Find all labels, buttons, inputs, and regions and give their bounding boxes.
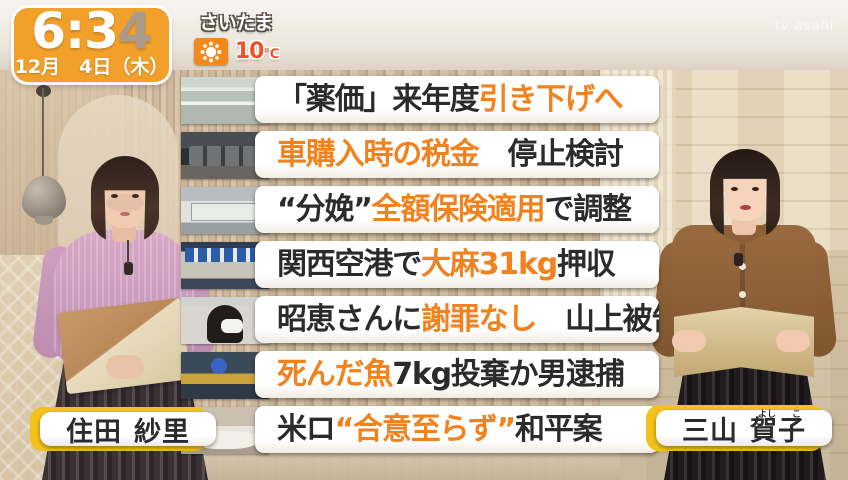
headline-segment-highlight: 全額保険適用 — [372, 192, 545, 227]
anchor-right-eye — [752, 187, 759, 191]
headline-row[interactable]: 関西空港で大麻31kg押収 — [181, 241, 653, 290]
anchor-right-furigana-2: こ — [792, 407, 801, 420]
clock-widget: 6:34 12月 4日（木） — [14, 8, 169, 82]
headline-segment: 山上被告 — [536, 302, 659, 337]
anchor-left-lapel-mic — [124, 262, 133, 275]
headline-text: 米ロ“合意至らず”和平案 — [277, 415, 601, 445]
anchor-right-shirt-button — [739, 291, 746, 298]
anchor-left-surname: 住田 — [66, 417, 122, 448]
headline-text: 関西空港で大麻31kg押収 — [277, 250, 615, 280]
headline-bar[interactable]: 「薬価」来年度引き下げへ — [255, 76, 659, 123]
headline-bar[interactable]: 死んだ魚7kg投棄か男逮捕 — [255, 351, 659, 398]
channel-watermark: tv asahi — [775, 18, 834, 34]
headline-bar[interactable]: “分娩”全額保険適用で調整 — [255, 186, 659, 233]
headline-bar[interactable]: 昭恵さんに謝罪なし 山上被告 — [255, 296, 659, 343]
nameplate-body: 三山賀子 — [656, 410, 832, 446]
headline-text: 死んだ魚7kg投棄か男逮捕 — [277, 360, 624, 390]
weather-widget: さいたま 10℃ — [176, 8, 296, 70]
anchor-left-mouth — [120, 212, 130, 216]
headline-segment: 米ロ — [277, 412, 335, 447]
headline-list: 「薬価」来年度引き下げへ 車購入時の税金 停止検討 “分娩”全額保険適用で調整 — [181, 76, 653, 466]
headline-segment-highlight: 謝罪なし — [421, 302, 536, 337]
headline-bar[interactable]: 米ロ“合意至らず”和平案 — [255, 406, 659, 453]
headline-text: “分娩”全額保険適用で調整 — [277, 195, 631, 225]
weather-temperature: 10℃ — [235, 39, 278, 64]
headline-segment-highlight: 車購入時の税金 — [277, 137, 479, 172]
weather-city-label: さいたま — [176, 8, 296, 35]
headline-segment-highlight: 引き下げへ — [479, 82, 623, 117]
nameplate-right: 三山賀子 よし こ — [646, 405, 824, 451]
headline-row[interactable]: “分娩”全額保険適用で調整 — [181, 186, 653, 235]
anchor-right-furigana-1: よし — [758, 407, 776, 420]
headline-segment: 関西空港で — [277, 247, 421, 282]
anchor-right-eye — [731, 187, 738, 191]
anchor-right-given-name: 賀子 — [750, 416, 806, 447]
headline-text: 昭恵さんに謝罪なし 山上被告 — [277, 305, 659, 335]
nameplate-left: 住田紗里 — [30, 407, 208, 451]
headline-bar[interactable]: 関西空港で大麻31kg押収 — [255, 241, 659, 288]
weather-temp-unit: ℃ — [263, 47, 278, 62]
headline-segment: “分娩” — [277, 192, 372, 227]
sun-icon — [194, 38, 228, 65]
anchor-right-name: 三山賀子 — [682, 409, 806, 448]
headline-segment: 停止検討 — [479, 137, 623, 172]
headline-row[interactable]: 車購入時の税金 停止検討 — [181, 131, 653, 180]
anchor-right-hand — [776, 330, 810, 352]
anchor-right-mouth — [740, 205, 751, 210]
anchor-left-script-folder — [57, 298, 190, 395]
anchor-right-hand — [672, 330, 706, 352]
headline-row[interactable]: 昭恵さんに謝罪なし 山上被告 — [181, 296, 653, 345]
anchor-left-hands — [106, 355, 144, 379]
headline-text: 車購入時の税金 停止検討 — [277, 140, 623, 170]
anchor-right-lapel-mic — [734, 253, 743, 266]
nameplate-body: 住田紗里 — [40, 412, 216, 446]
headline-row[interactable]: 「薬価」来年度引き下げへ — [181, 76, 653, 125]
headline-row[interactable]: 米ロ“合意至らず”和平案 — [181, 406, 653, 455]
broadcast-screen: 6:34 12月 4日（木） さいたま — [0, 0, 848, 480]
weather-temp-value: 10 — [235, 39, 264, 64]
anchor-left-name: 住田紗里 — [66, 410, 190, 449]
headline-segment-highlight: “合意至らず” — [335, 412, 515, 447]
anchor-left-eye — [132, 194, 139, 198]
headline-segment-highlight: 大麻31kg — [421, 247, 557, 282]
headline-text: 「薬価」来年度引き下げへ — [277, 85, 623, 115]
headline-segment: 昭恵さんに — [277, 302, 421, 337]
anchor-left-given-name: 紗里 — [134, 417, 190, 448]
clock-date: 12月 4日（木） — [14, 52, 169, 79]
headline-bar[interactable]: 車購入時の税金 停止検討 — [255, 131, 659, 178]
headline-segment: 「薬価」来年度 — [277, 82, 479, 117]
headline-segment-highlight: 死んだ魚 — [277, 357, 392, 392]
headline-segment: で調整 — [544, 192, 630, 227]
headline-segment: 7kg投棄か男逮捕 — [392, 357, 624, 392]
headline-segment: 和平案 — [515, 412, 601, 447]
headline-row[interactable]: 死んだ魚7kg投棄か男逮捕 — [181, 351, 653, 400]
anchor-right-surname: 三山 — [682, 416, 738, 447]
headline-segment: 押収 — [557, 247, 615, 282]
anchor-left-eye — [111, 194, 118, 198]
